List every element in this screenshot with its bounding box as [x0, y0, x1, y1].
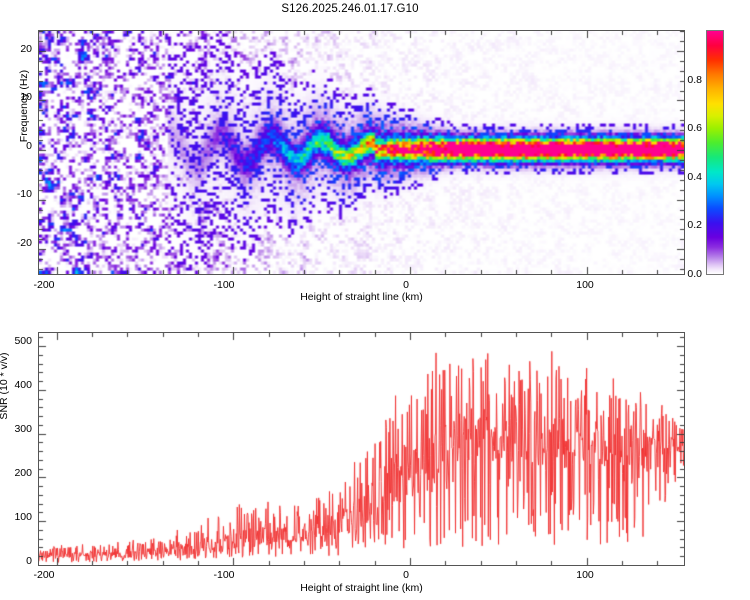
colorbar-tick-0: 0.0 [678, 268, 702, 280]
spec-ytick-20: 20 [4, 43, 32, 55]
snr-xtick-0: 0 [386, 569, 426, 581]
snr-x-axis-label: Height of straight line (km) [38, 582, 685, 594]
spec-ytick-minus10: -10 [4, 188, 32, 200]
spectrogram-y-axis-label: Frequency (Hz) [18, 36, 30, 176]
figure-canvas: S126.2025.246.01.17.G10 Frequency (Hz) 2… [0, 0, 750, 600]
snr-plot-area [38, 332, 685, 566]
spec-ytick-minus20: -20 [4, 237, 32, 249]
spec-xtick-minus200: -200 [24, 279, 64, 291]
snr-xtick-minus200: -200 [24, 569, 64, 581]
spec-ytick-0: 0 [4, 140, 32, 152]
spec-ytick-10: 10 [4, 91, 32, 103]
snr-ytick-100: 100 [4, 511, 32, 523]
colorbar-tick-1: 0.2 [678, 219, 702, 231]
spectrogram-x-axis-label: Height of straight line (km) [38, 291, 685, 303]
snr-ytick-200: 200 [4, 467, 32, 479]
snr-canvas [39, 333, 684, 565]
spec-xtick-minus100: -100 [204, 279, 244, 291]
colorbar-tick-3: 0.6 [678, 122, 702, 134]
spec-xtick-100: 100 [565, 279, 605, 291]
snr-xtick-100: 100 [565, 569, 605, 581]
snr-ytick-500: 500 [4, 335, 32, 347]
snr-ytick-0: 0 [4, 555, 32, 567]
snr-ytick-400: 400 [4, 379, 32, 391]
snr-ytick-300: 300 [4, 423, 32, 435]
spec-xtick-0: 0 [386, 279, 426, 291]
colorbar-tick-4: 0.8 [678, 74, 702, 86]
snr-xtick-minus100: -100 [204, 569, 244, 581]
page-title: S126.2025.246.01.17.G10 [0, 3, 700, 15]
colorbar [706, 30, 724, 275]
colorbar-tick-2: 0.4 [678, 171, 702, 183]
spectrogram-plot-area [38, 30, 685, 275]
spectrogram-canvas [39, 31, 684, 274]
